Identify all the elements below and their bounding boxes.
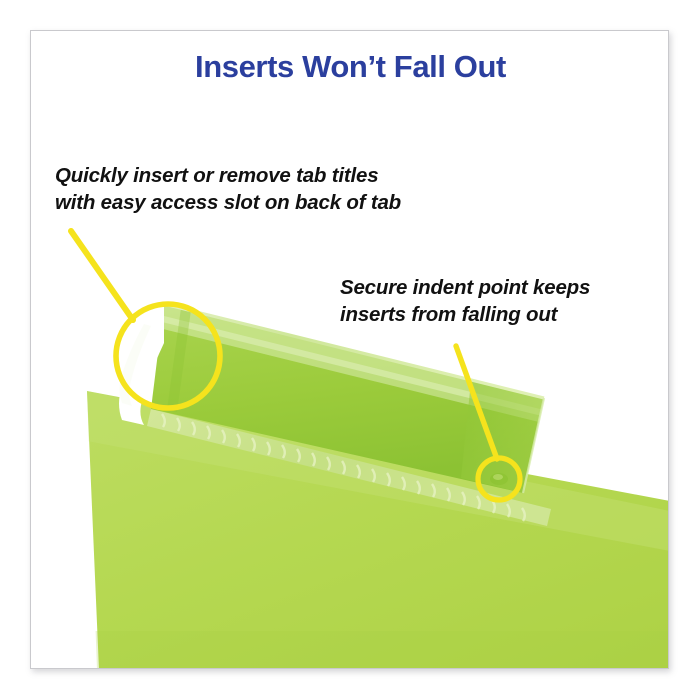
annotation-indent-point-text: Secure indent point keeps inserts from f… bbox=[340, 274, 590, 328]
product-image-card: Inserts Won’t Fall Out Quickly insert or… bbox=[30, 30, 669, 669]
page-title: Inserts Won’t Fall Out bbox=[31, 49, 669, 85]
product-photo bbox=[31, 31, 669, 669]
indent-point-dimple bbox=[490, 473, 508, 485]
screenshot-root: Inserts Won’t Fall Out Quickly insert or… bbox=[0, 0, 700, 700]
annotation-access-slot-text: Quickly insert or remove tab titles with… bbox=[55, 162, 401, 216]
